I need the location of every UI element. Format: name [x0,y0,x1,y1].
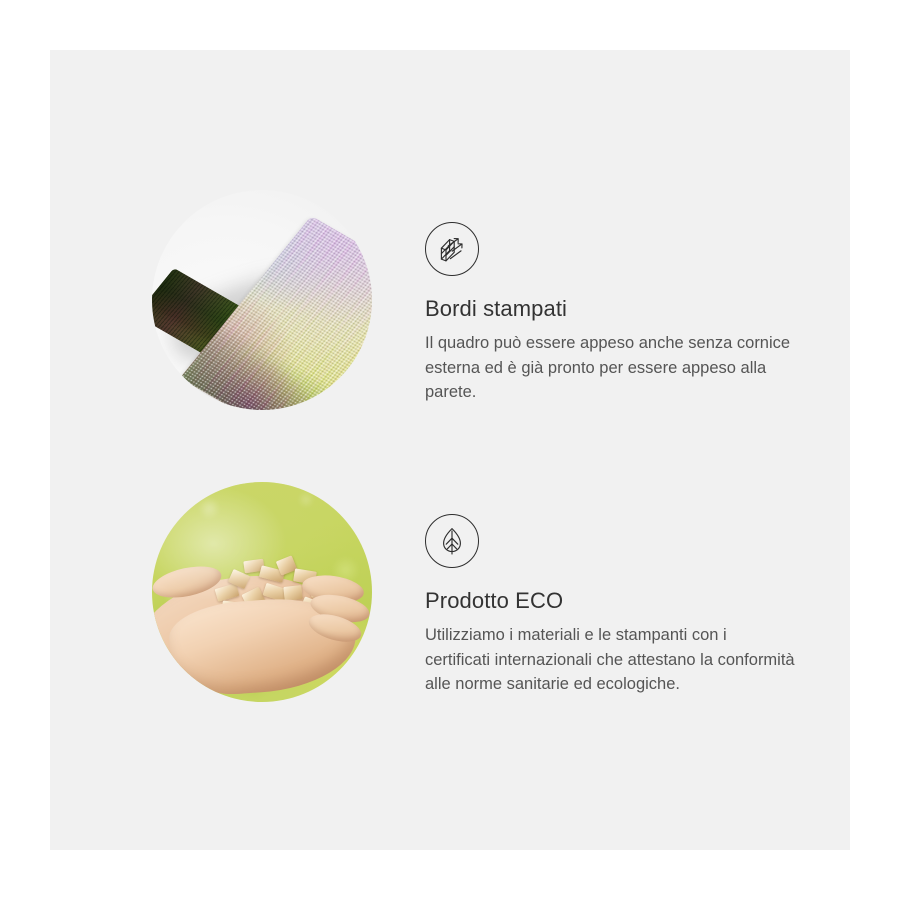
feature-description: Utilizziamo i materiali e le stampanti c… [425,623,795,696]
content-panel: Bordi stampati Il quadro può essere appe… [50,50,850,850]
canvas-photo-scene [152,190,372,410]
printed-edges-content: Bordi stampati Il quadro può essere appe… [425,190,805,405]
feature-eco-product: Prodotto ECO Utilizziamo i materiali e l… [50,482,850,752]
eco-product-image [152,482,372,702]
wrapped-canvas-edges-icon [425,222,479,276]
feature-title: Prodotto ECO [425,588,805,614]
eco-product-content: Prodotto ECO Utilizziamo i materiali e l… [425,482,805,697]
printed-edges-image [152,190,372,410]
leaf-icon [425,514,479,568]
feature-printed-edges: Bordi stampati Il quadro può essere appe… [50,190,850,460]
feature-description: Il quadro può essere appeso anche senza … [425,331,795,404]
eco-photo-scene [152,482,372,702]
product-feature-page: Bordi stampati Il quadro può essere appe… [0,0,900,900]
feature-title: Bordi stampati [425,296,805,322]
